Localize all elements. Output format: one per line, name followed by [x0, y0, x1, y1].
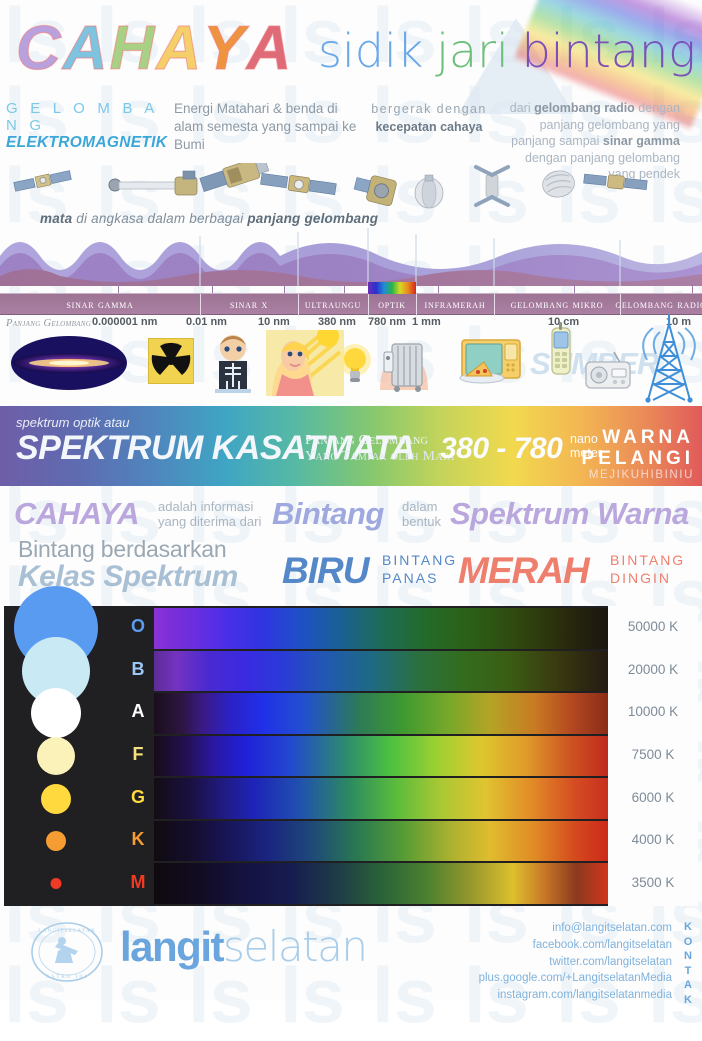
langitselatan-wordmark: langitselatan: [120, 926, 366, 968]
band-divider: [298, 294, 299, 316]
langitselatan-seal-logo: LANGITSELATAN ASTRO 101: [28, 921, 106, 983]
stmt-dalam-line1: dalam: [402, 500, 441, 515]
title-letter: A: [156, 18, 203, 80]
chart-temp-label: 10000 K: [608, 704, 698, 719]
chart-temperature-axis: 50000 K20000 K10000 K7500 K6000 K4000 K3…: [608, 606, 698, 906]
band-bar: Sinar GammaSinar XUltraunguOptikInframer…: [0, 293, 702, 315]
band-tick: [212, 284, 213, 293]
intro-text-energy: Energi Matahari & benda di alam semesta …: [174, 100, 358, 155]
footer: LANGITSELATAN ASTRO 101 langitselatan in…: [0, 906, 702, 1000]
contact-item[interactable]: instagram.com/langitselatanmedia: [479, 987, 672, 1004]
spectrum-strip: [154, 736, 608, 777]
microwave-oven-icon: [458, 338, 522, 391]
radio-tower-icon: [638, 314, 700, 411]
band-segment: Gelombang mikro: [494, 294, 620, 316]
seal-bottom-text: ASTRO 101: [46, 974, 89, 980]
chart-temp-label: 20000 K: [608, 662, 698, 677]
band-tick: [118, 284, 119, 293]
band-tick: [438, 284, 439, 293]
kontak-letter: O: [680, 935, 696, 950]
band-divider: [200, 294, 201, 316]
stmt-adalah-informasi: adalah informasi yang diterima dari: [158, 500, 261, 530]
band-divider: [620, 294, 621, 316]
visible-spectrum-panel: spektrum optik atau SPEKTRUM KASATMATA P…: [0, 406, 702, 486]
stmt-bintang: Bintang: [272, 496, 384, 532]
satellite-illustration-row: mata di angkasa dalam berbagai panjang g…: [0, 163, 702, 248]
title-letter: Y: [203, 18, 246, 80]
title-letter: A: [246, 18, 293, 80]
wavelength-caption: Panjang Gelombang Yang Tampak oleh Mata: [305, 433, 455, 464]
wavelength-caption-line1: Panjang Gelombang: [305, 433, 455, 449]
stmt-biru-sub1: BINTANG: [382, 552, 457, 570]
title-cahaya: CAHAYA: [16, 18, 293, 80]
label-elektromagnetik: ELEKTROMAGNETIK: [6, 134, 162, 152]
spectrum-strip: [154, 778, 608, 819]
pelangi-label: PELANGI: [582, 449, 694, 470]
galaxy-allsky-icon: [10, 334, 128, 397]
stmt-merah-sub1: BINTANG: [610, 552, 685, 570]
band-tick-marks: [0, 284, 702, 293]
spectrum-strip: [154, 651, 608, 692]
stmt-adalah-line2: yang diterima dari: [158, 515, 261, 530]
subtitle-word: sidik: [318, 24, 423, 78]
chart-class-label: G: [122, 787, 154, 808]
star-size-circle: [46, 831, 66, 851]
spectrum-strip: [154, 608, 608, 649]
subtitle-word: jari: [436, 24, 509, 78]
stellar-spectra-chart: OBAFGKM 50000 K20000 K10000 K7500 K6000 …: [4, 606, 698, 906]
intro-text-kecepatan: kecepatan cahaya: [370, 118, 488, 136]
chart-temp-label: 6000 K: [608, 790, 698, 805]
band-divider: [494, 294, 495, 316]
band-divider: [368, 294, 369, 316]
wavelength-caption-line2: Yang Tampak oleh Mata: [305, 449, 455, 465]
kontak-letter: A: [680, 978, 696, 993]
optical-rainbow-strip: [368, 282, 416, 294]
chart-spectra-rows: [154, 606, 608, 906]
kontak-letter: N: [680, 949, 696, 964]
heater-icon: [376, 332, 432, 399]
header: CAHAYA sidik jari bintang G E L O M B A …: [0, 0, 702, 165]
stmt-dalam-bentuk: dalam bentuk: [402, 500, 441, 530]
title-letter: C: [16, 18, 63, 80]
intro-text-bergerak: bergerak dengan: [370, 100, 488, 118]
stmt-biru-sub2: PANAS: [382, 570, 457, 588]
band-segment: Inframerah: [416, 294, 494, 316]
chart-class-label: O: [122, 616, 154, 637]
band-segment: Sinar X: [200, 294, 298, 316]
spectrum-strip: [154, 863, 608, 904]
stmt-dalam-line2: bentuk: [402, 515, 441, 530]
infographic-page: lslslslslslslslslslslslslslslslslslslsls…: [0, 0, 702, 1000]
spectrum-strip: [154, 821, 608, 862]
contact-list: info@langitselatan.comfacebook.com/langi…: [479, 920, 672, 1004]
band-segment: Ultraungu: [298, 294, 368, 316]
stmt-bintang-berdasarkan: Bintang berdasarkan: [18, 536, 226, 563]
wavelength-range-value: 380 - 780: [440, 432, 562, 466]
mobile-phone-icon: [546, 322, 576, 385]
wavelength-tick-label: 1 mm: [412, 316, 441, 328]
chart-star-sizes: OBAFGKM: [4, 606, 154, 906]
wavelength-tick-label: 0.01 nm: [186, 316, 227, 328]
sunbathing-woman-icon: [266, 330, 344, 401]
contact-item[interactable]: plus.google.com/+LangitselatanMedia: [479, 970, 672, 987]
contact-item[interactable]: twitter.com/langitselatan: [479, 954, 672, 971]
subtitle-sidik-jari-bintang: sidik jari bintang: [318, 28, 696, 74]
wavelength-tick-label: 10 nm: [258, 316, 290, 328]
stmt-merah-sub2: DINGIN: [610, 570, 685, 588]
warna-label: WARNA: [582, 428, 694, 449]
title-letter: A: [63, 18, 110, 80]
label-gelombang: G E L O M B A N G: [6, 100, 162, 134]
warna-pelangi-block: WARNA PELANGI MEJIKUHIBINIU: [582, 428, 694, 481]
band-segment: Gelombang radio: [620, 294, 702, 316]
band-tick: [344, 284, 345, 293]
chart-class-label: M: [122, 872, 154, 893]
band-divider: [416, 294, 417, 316]
statement-block: CAHAYA adalah informasi yang diterima da…: [0, 492, 702, 602]
radio-receiver-icon: [582, 350, 636, 395]
kontak-label: KONTAK: [680, 920, 696, 1007]
star-size-circle: [37, 737, 75, 775]
seal-top-text: LANGITSELATAN: [38, 928, 96, 934]
star-size-circle: [51, 878, 62, 889]
stmt-bintang-panas: BINTANG PANAS: [382, 552, 457, 587]
lightbulb-icon: [338, 342, 372, 391]
star-size-circle: [41, 784, 71, 814]
spektrum-optik-label: spektrum optik atau: [16, 415, 129, 430]
satellite-caption: mata di angkasa dalam berbagai panjang g…: [40, 211, 378, 226]
contact-item[interactable]: info@langitselatan.com: [479, 920, 672, 937]
chart-class-label: K: [122, 829, 154, 850]
stmt-adalah-line1: adalah informasi: [158, 500, 261, 515]
chart-class-label: B: [122, 659, 154, 680]
mejikuhibiniu-label: MEJIKUHIBINIU: [582, 469, 694, 481]
chart-temp-label: 4000 K: [608, 832, 698, 847]
spectrum-strip: [154, 693, 608, 734]
stmt-biru: BIRU: [282, 550, 368, 592]
kontak-letter: T: [680, 964, 696, 979]
stmt-bintang-dingin: BINTANG DINGIN: [610, 552, 685, 587]
wavelength-tick-label: 380 nm: [318, 316, 356, 328]
logo-selatan: selatan: [223, 922, 366, 971]
band-tick: [692, 284, 693, 293]
subtitle-word: bintang: [522, 24, 696, 78]
band-segment: Sinar Gamma: [0, 294, 200, 316]
band-tick: [284, 284, 285, 293]
chart-temp-label: 7500 K: [608, 747, 698, 762]
chart-class-label: F: [122, 744, 154, 765]
logo-langit: langit: [120, 923, 223, 970]
chart-temp-label: 3500 K: [608, 875, 698, 890]
stmt-cahaya: CAHAYA: [14, 496, 139, 532]
radiation-hazard-icon: [148, 338, 194, 389]
band-tick: [574, 284, 575, 293]
contact-item[interactable]: facebook.com/langitselatan: [479, 937, 672, 954]
stmt-merah: MERAH: [458, 550, 589, 592]
chart-temp-label: 50000 K: [608, 619, 698, 634]
chart-class-labels: OBAFGKM: [122, 606, 154, 906]
stmt-spektrum-warna: Spektrum Warna: [450, 496, 689, 532]
source-icons-row: SUMBER: [0, 328, 702, 406]
wavelength-tick-label: 0.000001 nm: [92, 316, 157, 328]
page-title: CAHAYA: [16, 18, 293, 80]
chart-class-label: A: [122, 701, 154, 722]
band-segment: Optik: [368, 294, 416, 316]
xray-boy-icon: [206, 332, 260, 401]
star-size-circle: [31, 688, 81, 738]
title-letter: H: [110, 18, 157, 80]
kontak-letter: K: [680, 920, 696, 935]
wavelength-tick-label: 780 nm: [368, 316, 406, 328]
